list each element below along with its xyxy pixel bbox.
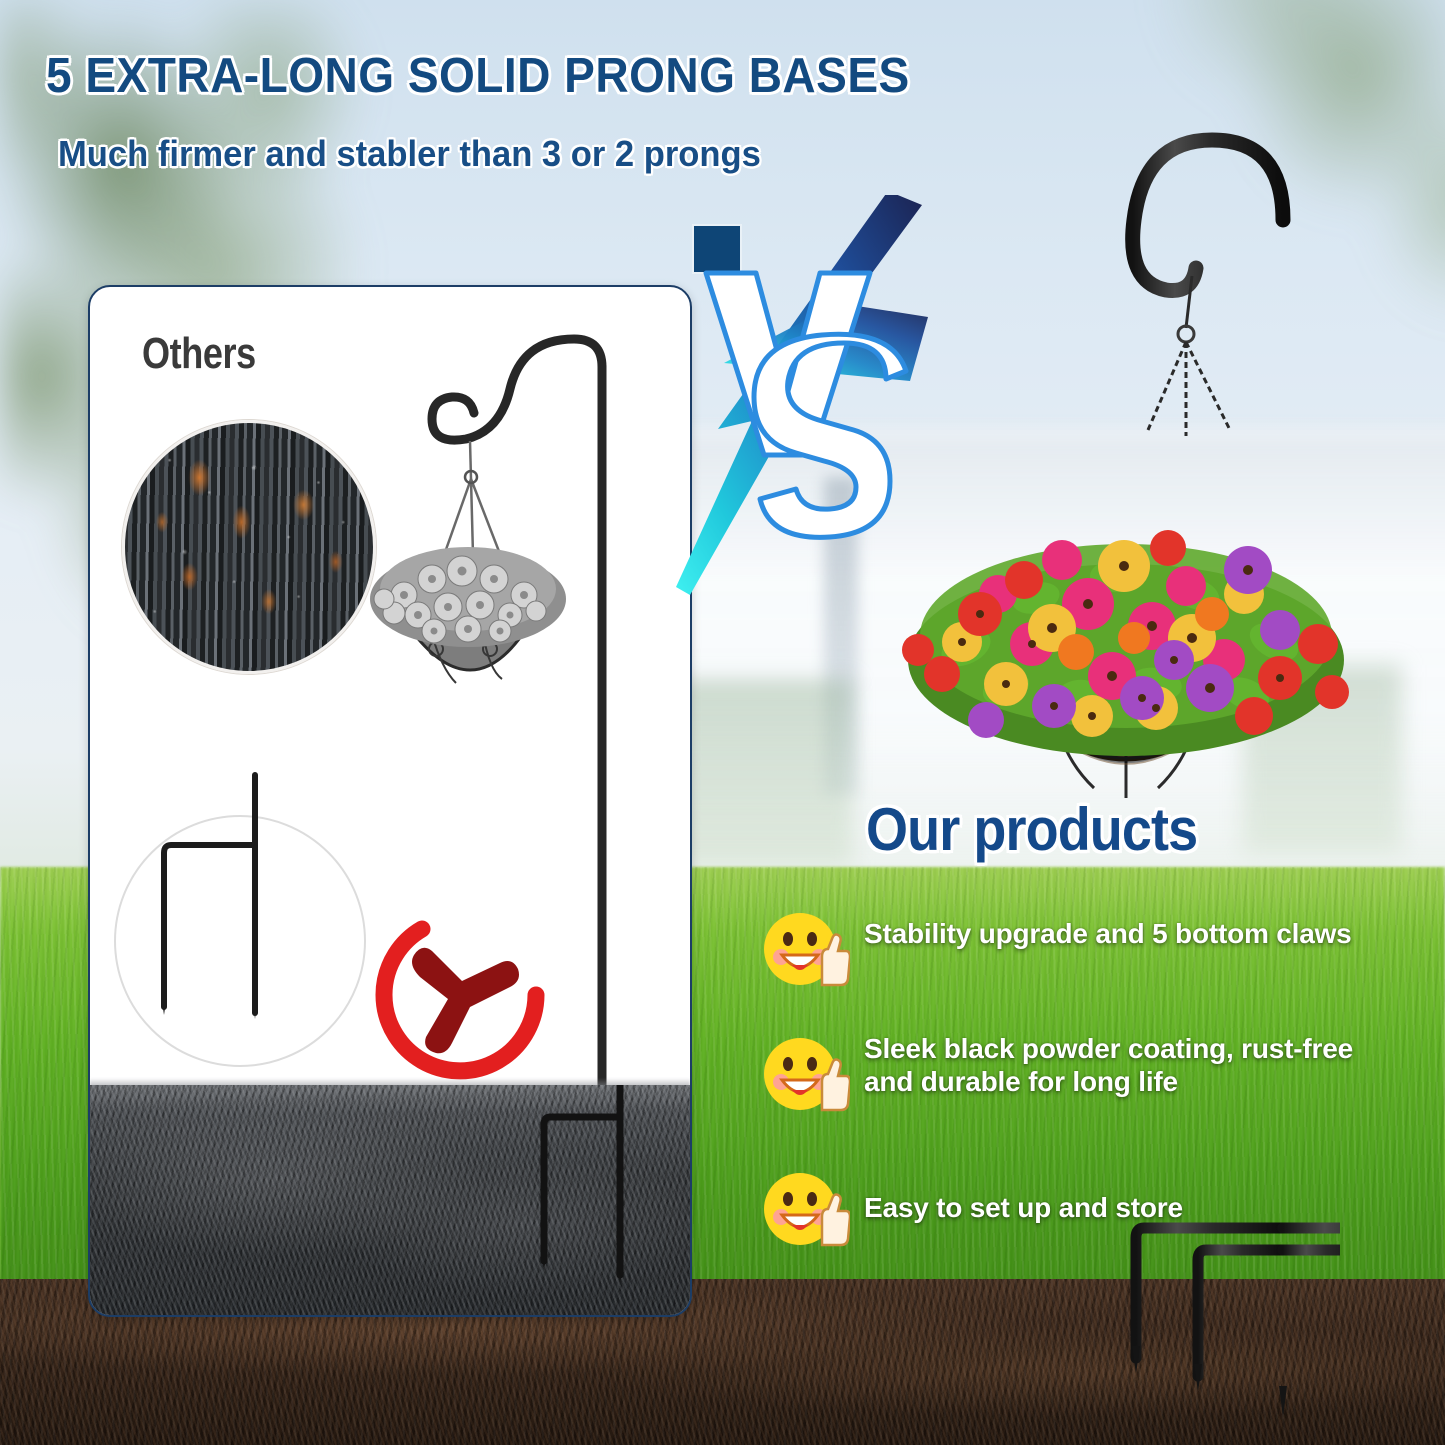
red-x-mark-icon bbox=[360, 895, 560, 1095]
feature-text-3: Easy to set up and store bbox=[864, 1165, 1183, 1224]
two-prong-stake-drawing bbox=[114, 767, 364, 1067]
water-droplets bbox=[125, 423, 373, 671]
page-subtitle: Much firmer and stabler than 3 or 2 pron… bbox=[58, 133, 903, 175]
smiley-thumbs-up-icon bbox=[762, 1165, 850, 1253]
blurred-house-window-left bbox=[679, 679, 852, 867]
feature-text-1: Stability upgrade and 5 bottom claws bbox=[864, 905, 1352, 950]
page-title: 5 EXTRA-LONG SOLID PRONG BASES bbox=[46, 52, 854, 101]
feature-item-3: Easy to set up and store bbox=[762, 1165, 1382, 1253]
buried-two-prong-stake bbox=[520, 1085, 670, 1315]
feature-item-1: Stability upgrade and 5 bottom claws bbox=[762, 905, 1382, 993]
hanging-flower-basket bbox=[856, 398, 1396, 798]
others-comparison-card: Others bbox=[88, 285, 692, 1317]
feature-item-2: Sleek black powder coating, rust-free an… bbox=[762, 1030, 1382, 1118]
rusty-pipes-closeup bbox=[122, 420, 376, 674]
five-prong-base bbox=[1132, 1228, 1340, 1418]
our-products-label: Our products bbox=[866, 795, 1197, 864]
smiley-thumbs-up-icon bbox=[762, 905, 850, 993]
grayscale-flowers bbox=[370, 547, 566, 647]
smiley-thumbs-up-icon bbox=[762, 1030, 850, 1118]
feature-text-2: Sleek black powder coating, rust-free an… bbox=[864, 1030, 1382, 1098]
others-label: Others bbox=[142, 329, 256, 379]
infographic-canvas: 5 EXTRA-LONG SOLID PRONG BASES Much firm… bbox=[0, 0, 1445, 1445]
hook-curve bbox=[1133, 140, 1283, 291]
flower-basket-graphic bbox=[856, 398, 1396, 798]
